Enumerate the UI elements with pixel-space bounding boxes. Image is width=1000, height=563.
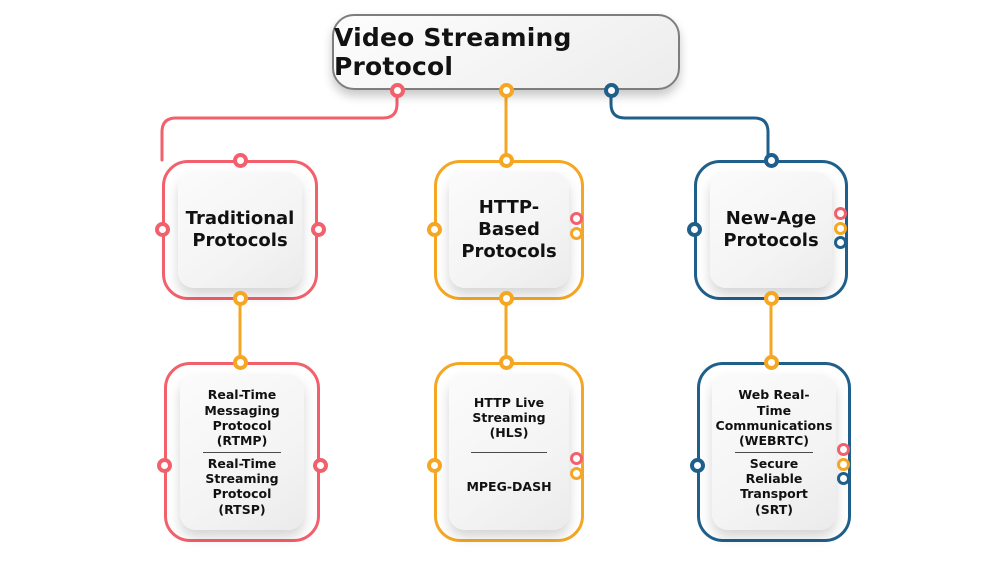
branch-newage-line-1: New-Age bbox=[726, 208, 816, 230]
leaf-http-right-dot-orange bbox=[570, 467, 583, 480]
branch-newage-right-dot-orange bbox=[834, 222, 847, 235]
branch-http-right-dot-red bbox=[570, 212, 583, 225]
leaf-http-section-top: HTTP Live Streaming (HLS) bbox=[463, 384, 555, 452]
wire-root-newage bbox=[611, 90, 768, 160]
leaf-newage-section-top: Web Real- Time Communications (WEBRTC) bbox=[726, 384, 822, 452]
branch-newage-left-dot bbox=[687, 222, 702, 237]
leaf-traditional-top-line-2: Messaging Protocol bbox=[194, 403, 290, 434]
root-port-http-dot bbox=[499, 83, 514, 98]
leaf-http-left-dot bbox=[427, 458, 442, 473]
leaf-node-newage[interactable]: Web Real- Time Communications (WEBRTC) S… bbox=[712, 374, 836, 530]
root-port-traditional-dot bbox=[390, 83, 405, 98]
branch-newage-right-dot-red bbox=[834, 207, 847, 220]
leaf-traditional-section-top: Real-Time Messaging Protocol (RTMP) bbox=[194, 384, 290, 452]
leaf-newage-left-dot bbox=[690, 458, 705, 473]
leaf-http-bottom-line-1: MPEG-DASH bbox=[466, 479, 551, 494]
branch-traditional-bottom-dot bbox=[233, 291, 248, 306]
diagram-canvas: Video Streaming Protocol Traditional Pro… bbox=[0, 0, 1000, 563]
leaf-newage-top-line-2: Communications bbox=[716, 418, 833, 433]
branch-newage-right-dot-blue bbox=[834, 236, 847, 249]
leaf-newage-top-line-3: (WEBRTC) bbox=[739, 433, 809, 448]
leaf-node-traditional[interactable]: Real-Time Messaging Protocol (RTMP) Real… bbox=[180, 374, 304, 530]
leaf-newage-section-bottom: Secure Reliable Transport (SRT) bbox=[726, 453, 822, 521]
wire-root-traditional bbox=[162, 90, 397, 160]
leaf-traditional-top-dot bbox=[233, 355, 248, 370]
branch-traditional-left-dot bbox=[155, 222, 170, 237]
branch-node-http[interactable]: HTTP-Based Protocols bbox=[449, 172, 569, 288]
leaf-http-top-line-1: HTTP Live bbox=[474, 395, 544, 410]
branch-traditional-line-2: Protocols bbox=[192, 230, 287, 252]
branch-http-line-2: Protocols bbox=[461, 241, 556, 263]
branch-newage-bottom-dot bbox=[764, 291, 779, 306]
branch-http-left-dot bbox=[427, 222, 442, 237]
leaf-http-right-dot-red bbox=[570, 452, 583, 465]
leaf-http-top-line-2: Streaming bbox=[472, 410, 545, 425]
leaf-traditional-top-line-3: (RTMP) bbox=[217, 433, 268, 448]
page-title: Video Streaming Protocol bbox=[334, 23, 678, 81]
leaf-http-section-bottom: MPEG-DASH bbox=[463, 453, 555, 521]
leaf-traditional-bottom-line-1: Real-Time bbox=[208, 456, 277, 471]
leaf-traditional-top-line-1: Real-Time bbox=[208, 387, 277, 402]
leaf-newage-right-dot-blue bbox=[837, 472, 850, 485]
leaf-traditional-bottom-line-3: (RTSP) bbox=[218, 502, 265, 517]
branch-http-top-dot bbox=[499, 153, 514, 168]
branch-http-line-1: HTTP-Based bbox=[449, 197, 569, 241]
branch-node-traditional[interactable]: Traditional Protocols bbox=[178, 172, 302, 288]
root-node[interactable]: Video Streaming Protocol bbox=[332, 14, 680, 90]
leaf-traditional-right-dot bbox=[313, 458, 328, 473]
leaf-traditional-left-dot bbox=[157, 458, 172, 473]
leaf-newage-bottom-line-2: Transport (SRT) bbox=[726, 486, 822, 517]
leaf-http-top-line-3: (HLS) bbox=[490, 425, 529, 440]
branch-node-newage[interactable]: New-Age Protocols bbox=[710, 172, 832, 288]
leaf-newage-bottom-line-1: Secure Reliable bbox=[726, 456, 822, 487]
root-port-newage-dot bbox=[604, 83, 619, 98]
branch-newage-line-2: Protocols bbox=[723, 230, 818, 252]
branch-http-right-dot-orange bbox=[570, 227, 583, 240]
leaf-newage-right-dot-red bbox=[837, 443, 850, 456]
branch-traditional-line-1: Traditional bbox=[186, 208, 295, 230]
leaf-traditional-section-bottom: Real-Time Streaming Protocol (RTSP) bbox=[194, 453, 290, 521]
branch-http-bottom-dot bbox=[499, 291, 514, 306]
branch-newage-top-dot bbox=[764, 153, 779, 168]
leaf-newage-top-line-1: Web Real- Time bbox=[726, 387, 822, 418]
leaf-traditional-bottom-line-2: Streaming Protocol bbox=[194, 471, 290, 502]
leaf-node-http[interactable]: HTTP Live Streaming (HLS) MPEG-DASH bbox=[449, 374, 569, 530]
leaf-newage-top-dot bbox=[764, 355, 779, 370]
leaf-http-top-dot bbox=[499, 355, 514, 370]
branch-traditional-right-dot bbox=[311, 222, 326, 237]
leaf-newage-right-dot-orange bbox=[837, 458, 850, 471]
branch-traditional-top-dot bbox=[233, 153, 248, 168]
